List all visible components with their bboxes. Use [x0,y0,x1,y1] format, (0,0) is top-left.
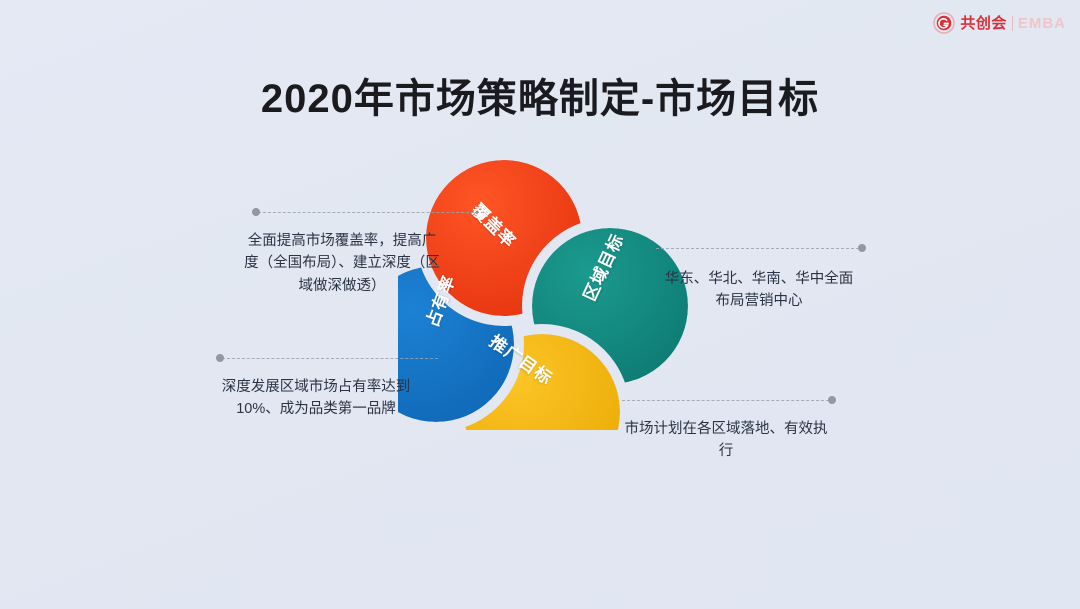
circle-g-icon [933,12,955,34]
logo-sub-text: EMBA [1018,16,1066,31]
connector-dot-promotion [828,396,836,404]
connector-dot-region [858,244,866,252]
note-promotion: 市场计划在各区域落地、有效执行 [624,418,828,463]
logo-divider [1012,16,1013,31]
brand-logo: 共创会 EMBA [933,10,1066,36]
connector-line-promotion [622,400,834,402]
connector-line-share [222,358,438,360]
note-coverage: 全面提高市场覆盖率，提高广度（全国布局）、建立深度（区域做深做透） [244,230,440,297]
connector-dot-coverage [252,208,260,216]
note-region: 华东、华北、华南、华中全面布局营销中心 [664,268,854,313]
connector-line-coverage [258,212,484,214]
slide-canvas: 共创会 EMBA 2020年市场策略制定-市场目标 [0,0,1080,609]
connector-line-region [656,248,864,250]
logo-brand-text: 共创会 [960,16,1007,31]
page-title: 2020年市场策略制定-市场目标 [0,66,1080,124]
pinwheel-diagram: 覆盖率 区域目标 推广目标 占有率 [398,158,690,430]
note-share: 深度发展区域市场占有率达到10%、成为品类第一品牌 [218,376,414,421]
connector-dot-share [216,354,224,362]
